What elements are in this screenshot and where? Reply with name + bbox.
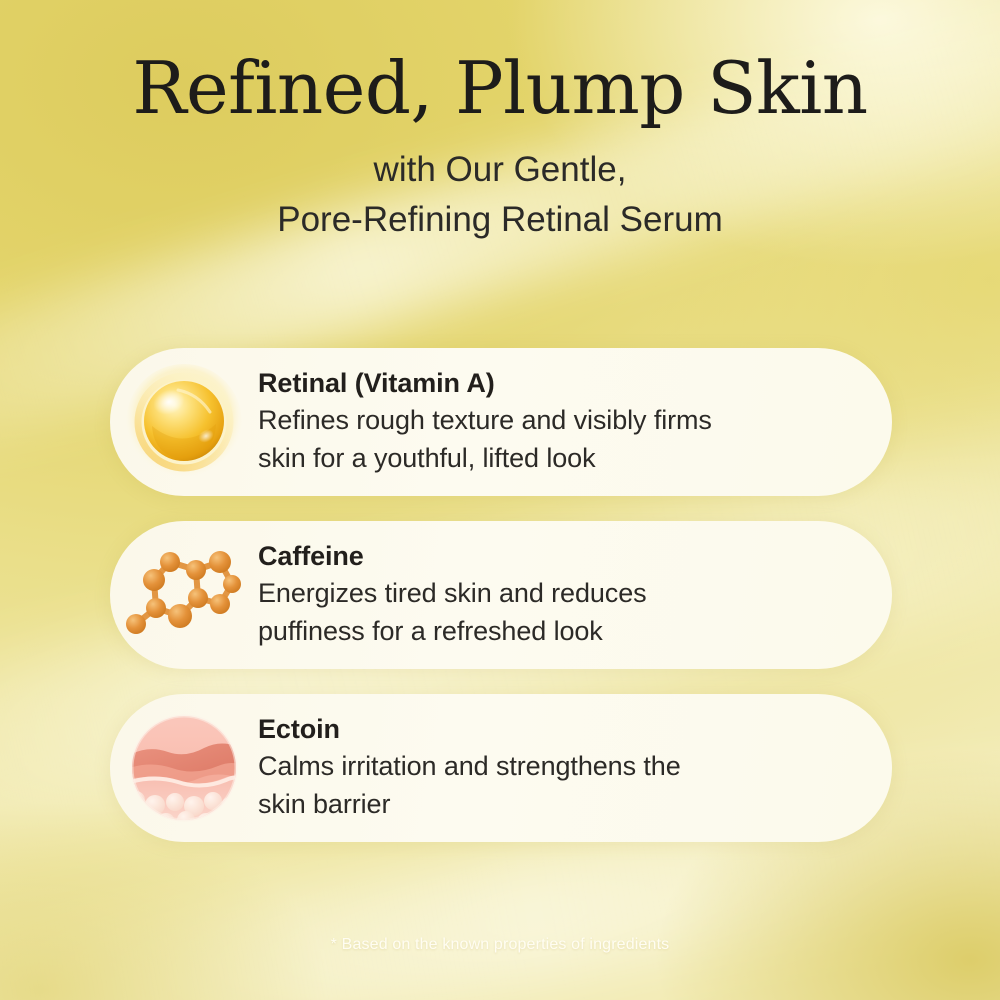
promotional-poster: Refined, Plump Skin with Our Gentle, Por… (0, 0, 1000, 1000)
ingredient-description: Calms irritation and strengthens the ski… (258, 748, 858, 824)
ingredient-description: Energizes tired skin and reduces puffine… (258, 575, 858, 651)
ingredient-description-line-1: Calms irritation and strengthens the (258, 748, 858, 786)
ingredient-card-text: Retinal (Vitamin A) Refines rough textur… (258, 366, 892, 478)
header-block: Refined, Plump Skin with Our Gentle, Por… (0, 52, 1000, 245)
ingredient-card-caffeine[interactable]: Caffeine Energizes tired skin and reduce… (110, 521, 892, 669)
ingredient-description-line-2: skin for a youthful, lifted look (258, 440, 858, 478)
subtitle-line-1: with Our Gentle, (0, 145, 1000, 195)
ingredient-title: Caffeine (258, 539, 858, 574)
ingredient-card-text: Ectoin Calms irritation and strengthens … (258, 712, 892, 824)
disclaimer-footnote: * Based on the known properties of ingre… (0, 936, 1000, 954)
ingredient-description-line-1: Refines rough texture and visibly firms (258, 402, 858, 440)
ingredient-title: Retinal (Vitamin A) (258, 366, 858, 401)
ingredient-description-line-1: Energizes tired skin and reduces (258, 575, 858, 613)
ingredient-card-text: Caffeine Energizes tired skin and reduce… (258, 539, 892, 651)
ingredient-description: Refines rough texture and visibly firms … (258, 402, 858, 478)
ingredient-title: Ectoin (258, 712, 858, 747)
caffeine-molecule-icon (110, 521, 258, 669)
page-subtitle: with Our Gentle, Pore-Refining Retinal S… (0, 145, 1000, 244)
ingredient-description-line-2: puffiness for a refreshed look (258, 613, 858, 651)
skin-layers-icon (110, 694, 258, 842)
ingredient-card-list: Retinal (Vitamin A) Refines rough textur… (110, 348, 892, 842)
ingredient-description-line-2: skin barrier (258, 786, 858, 824)
page-title: Refined, Plump Skin (0, 52, 1000, 125)
subtitle-line-2: Pore-Refining Retinal Serum (0, 195, 1000, 245)
ingredient-card-retinal[interactable]: Retinal (Vitamin A) Refines rough textur… (110, 348, 892, 496)
oil-droplet-icon (110, 348, 258, 496)
ingredient-card-ectoin[interactable]: Ectoin Calms irritation and strengthens … (110, 694, 892, 842)
